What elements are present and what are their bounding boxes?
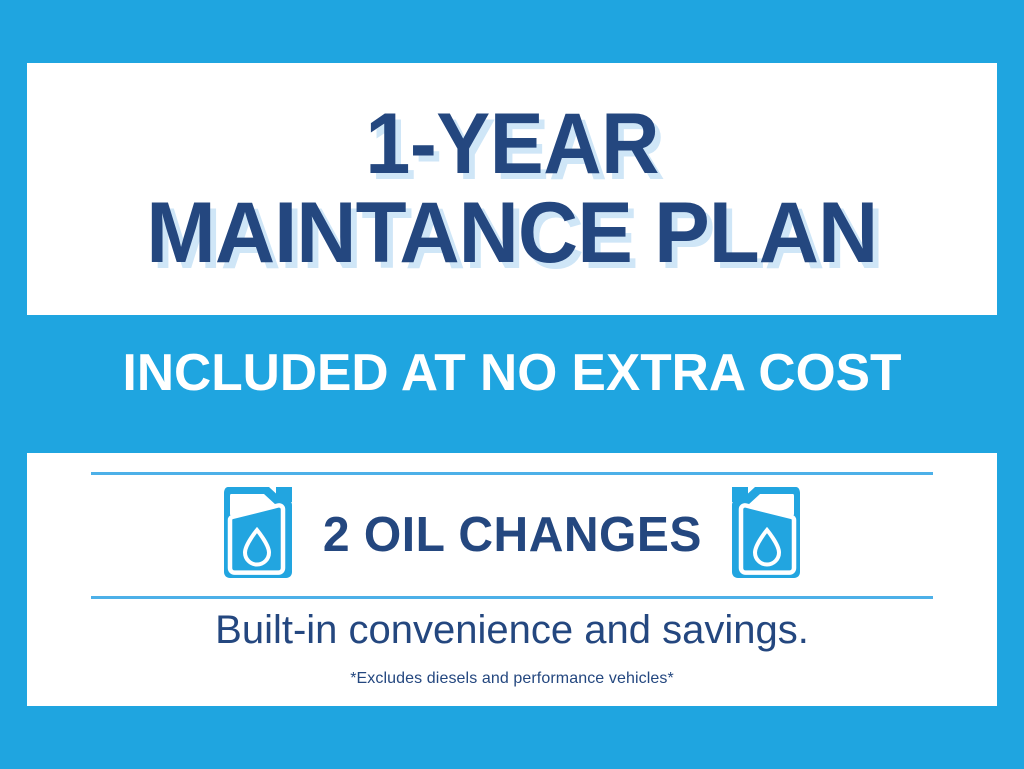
promo-poster: 1-YEAR MAINTANCE PLAN INCLUDED AT NO EXT… — [0, 0, 1024, 769]
oil-jug-icon — [731, 486, 803, 585]
headline-line-2: MAINTANCE PLAN — [147, 193, 878, 274]
oil-jug-icon — [221, 486, 293, 585]
fineprint-disclaimer: *Excludes diesels and performance vehicl… — [27, 670, 997, 688]
offer-row: 2 OIL CHANGES — [91, 477, 933, 593]
headline-card: 1-YEAR MAINTANCE PLAN — [27, 63, 997, 315]
details-card: 2 OIL CHANGES Built-in convenience and s… — [27, 453, 997, 706]
tagline: Built-in convenience and savings. — [27, 608, 997, 653]
subheadline: INCLUDED AT NO EXTRA COST — [5, 343, 1019, 403]
divider-bottom — [91, 596, 933, 599]
offer-label: 2 OIL CHANGES — [322, 507, 701, 563]
divider-top — [91, 472, 933, 475]
headline-line-1: 1-YEAR — [365, 104, 659, 185]
